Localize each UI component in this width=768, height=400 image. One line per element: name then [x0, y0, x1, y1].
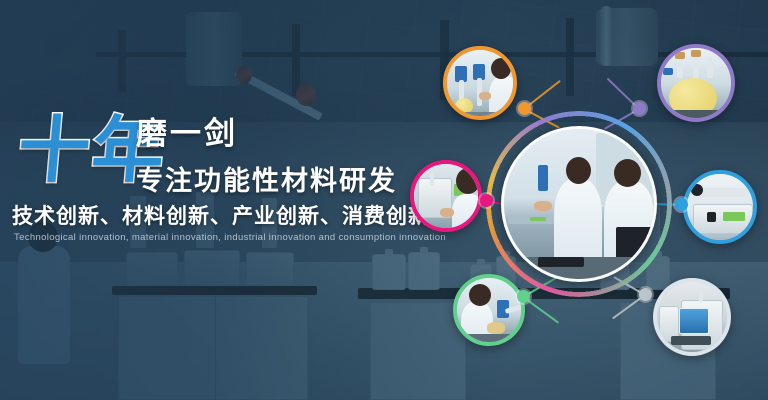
satellite-tr-hotplate — [665, 110, 731, 118]
headline-subtitles: 磨一剑 专注功能性材料研发 — [136, 114, 397, 198]
hub-blue-instrument — [538, 165, 548, 191]
headline-sub-line-1: 磨一剑 — [136, 114, 397, 154]
tagline-english: Technological innovation, material innov… — [14, 231, 446, 245]
hub-keyboard — [538, 257, 584, 267]
headline-sub-line-2: 专注功能性材料研发 — [136, 164, 397, 198]
satellite-r-spool — [691, 184, 703, 196]
satellite-l-scene — [414, 164, 478, 228]
satellite-l-person-hand — [440, 208, 454, 217]
satellite-tr-neck-3 — [707, 58, 713, 78]
satellite-br-rod — [699, 288, 703, 302]
hub-researcher-left-head — [566, 157, 591, 184]
satellite-photo-researcher-at-instrument[interactable] — [410, 160, 482, 232]
connector-node-left — [480, 194, 493, 207]
satellite-tr-cork-1 — [675, 52, 685, 59]
satellite-br-keyboard-tray — [671, 336, 711, 345]
satellite-bl-bench — [457, 334, 521, 342]
satellite-bl-sample — [487, 322, 505, 334]
satellite-tl-bench — [447, 112, 513, 116]
satellite-photo-chemist-at-reaction-setup[interactable] — [443, 46, 517, 120]
connector-node-top-left — [518, 102, 531, 115]
satellite-br-monitor — [679, 308, 709, 334]
tagline-chinese: 技术创新、材料创新、产业创新、消费创新 — [12, 203, 430, 230]
satellite-photo-scientist-at-workbench[interactable] — [453, 274, 525, 346]
connector-node-bottom-right — [639, 288, 652, 301]
satellite-r-machine-arm — [697, 188, 749, 197]
satellite-l-person-body — [452, 194, 478, 228]
satellite-photo-lab-testing-machine[interactable] — [683, 170, 757, 244]
satellite-photo-round-bottom-flask[interactable] — [657, 44, 735, 122]
promotional-banner: 十年 磨一剑 专注功能性材料研发 技术创新、材料创新、产业创新、消费创新 Tec… — [0, 0, 768, 400]
satellite-r-scene — [687, 174, 753, 240]
satellite-tl-scene — [447, 50, 513, 116]
satellite-tr-scene — [661, 48, 731, 118]
connector-node-bottom-left — [517, 290, 530, 303]
satellite-tr-clamp — [663, 68, 673, 75]
satellite-r-display-panel — [723, 212, 745, 221]
hub-scene — [504, 129, 654, 279]
connector-node-right — [675, 198, 688, 211]
satellite-l-person-head — [456, 168, 478, 194]
satellite-photo-computer-analysis-station[interactable] — [653, 278, 731, 356]
satellite-tl-person-body — [489, 76, 513, 116]
headline-text-block: 十年 磨一剑 专注功能性材料研发 技术创新、材料创新、产业创新、消费创新 Tec… — [0, 0, 400, 400]
satellite-tl-person-head — [491, 58, 511, 79]
satellite-bl-person-head — [469, 284, 491, 306]
connector-node-top-right — [633, 102, 646, 115]
satellite-br-scene — [657, 282, 727, 352]
hub-indicator-light — [530, 217, 546, 221]
satellite-bl-scene — [457, 278, 521, 342]
photo-collage — [395, 38, 768, 368]
hub-photo-lab-researchers-discussion[interactable] — [501, 126, 657, 282]
satellite-tr-neck-2 — [693, 54, 699, 78]
satellite-tl-person-hand — [479, 92, 491, 100]
satellite-tr-cork-2 — [691, 50, 701, 57]
hub-researcher-left-hand — [534, 201, 552, 211]
hub-researcher-right-head — [614, 159, 641, 187]
hub-researcher-left-body — [554, 179, 602, 265]
satellite-tr-neck-1 — [677, 56, 683, 78]
satellite-r-control-knob — [707, 212, 716, 222]
satellite-l-probe — [430, 172, 434, 186]
